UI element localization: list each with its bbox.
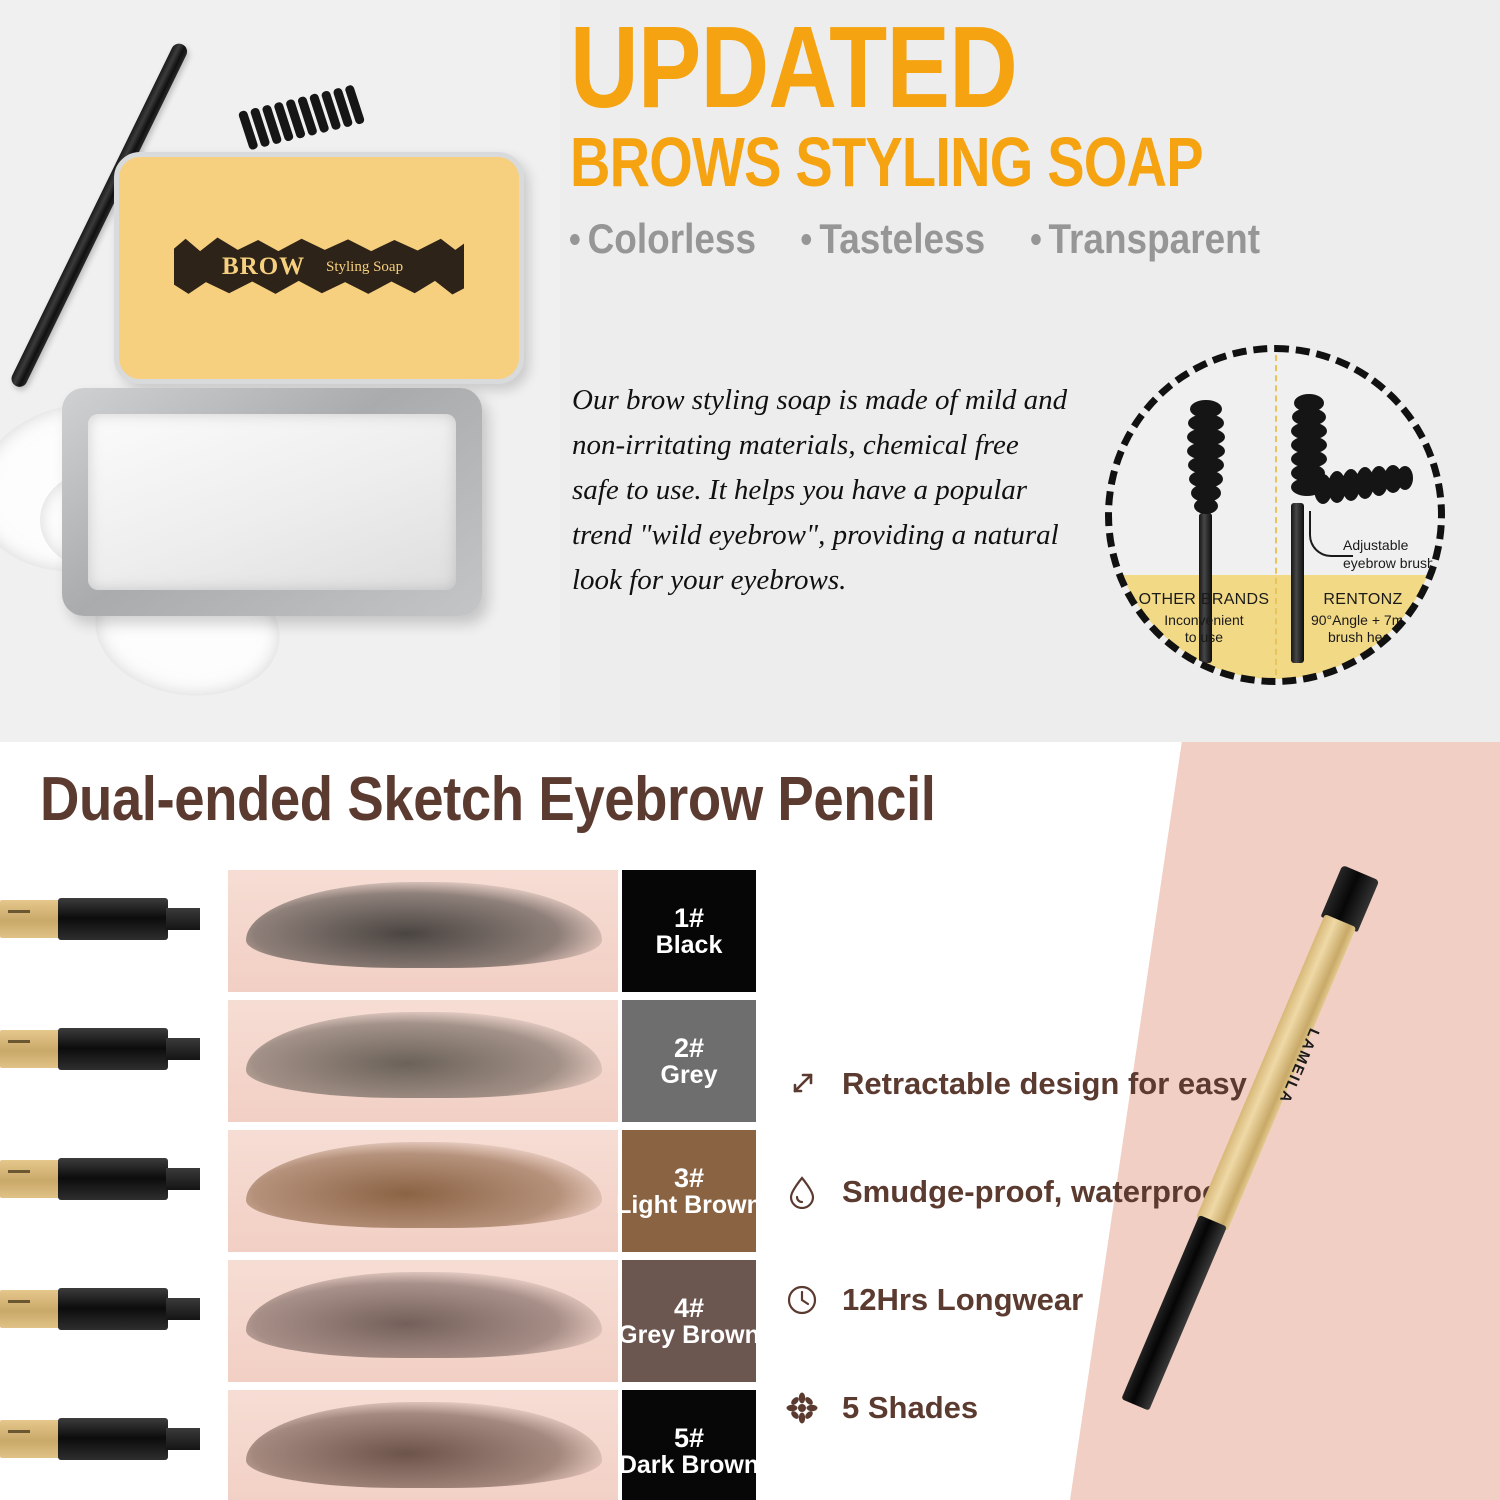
pencil-thumbnail xyxy=(0,1414,210,1462)
bullet-label: Transparent xyxy=(1049,215,1261,263)
bullet-tasteless: Tasteless xyxy=(802,215,985,263)
pencil-thumbnail xyxy=(0,894,210,942)
feature-label: 12Hrs Longwear xyxy=(842,1282,1083,1318)
pencil-gold-barrel xyxy=(0,1290,62,1328)
soap-tin-lid: BROW Styling Soap xyxy=(114,152,524,384)
headline-secondary: BROWS STYLING SOAP xyxy=(570,129,1290,196)
shade-name: Light Brown xyxy=(616,1192,762,1218)
clock-icon xyxy=(782,1280,822,1320)
pencil-chisel-tip xyxy=(166,1168,200,1190)
feature-item-shades: 5 Shades xyxy=(782,1354,1252,1462)
shade-row: 2# Grey xyxy=(0,1000,760,1122)
eyebrow-swatch-photo xyxy=(228,1260,618,1382)
eyebrow-swatch-photo xyxy=(228,870,618,992)
shade-swatch: 4# Grey Brown xyxy=(622,1260,756,1382)
pencil-black-barrel xyxy=(58,1288,168,1330)
shade-number: 3# xyxy=(674,1164,704,1192)
top-section: BROW Styling Soap UPDATED BROWS STYLING … xyxy=(0,0,1500,742)
flower-icon xyxy=(782,1388,822,1428)
soap-product-photo: BROW Styling Soap xyxy=(0,0,560,742)
eyebrow-swatch-photo xyxy=(228,1000,618,1122)
feature-bullets: Colorless Tasteless Transparent xyxy=(570,215,1362,263)
water-drop-icon xyxy=(782,1172,822,1212)
pencil-chisel-tip xyxy=(166,1038,200,1060)
pencil-gold-barrel xyxy=(0,900,62,938)
dashed-circle-border xyxy=(1105,345,1445,685)
pencil-black-barrel xyxy=(58,1158,168,1200)
shade-row: 1# Black xyxy=(0,870,760,992)
eyebrow-shape xyxy=(246,1142,602,1228)
shade-name: Grey xyxy=(661,1062,718,1088)
shade-name: Dark Brown xyxy=(619,1452,759,1478)
feature-item-retractable: Retractable design for easy xyxy=(782,1030,1252,1138)
feature-label: 5 Shades xyxy=(842,1390,978,1426)
product-infographic: BROW Styling Soap UPDATED BROWS STYLING … xyxy=(0,0,1500,1500)
eyebrow-swatch-photo xyxy=(228,1130,618,1252)
bullet-transparent: Transparent xyxy=(1031,215,1260,263)
pencil-thumbnail xyxy=(0,1154,210,1202)
shade-list: 1# Black 2# Grey xyxy=(0,870,760,1500)
shade-name: Grey Brown xyxy=(618,1322,760,1348)
brand-brushstroke: BROW Styling Soap xyxy=(174,235,464,297)
bullet-label: Colorless xyxy=(588,215,756,263)
pencil-gold-barrel xyxy=(0,1030,62,1068)
pencil-gold-barrel xyxy=(0,1420,62,1458)
bullet-dot-icon xyxy=(570,234,580,245)
pencil-thumbnail xyxy=(0,1024,210,1072)
pencil-chisel-tip xyxy=(166,1428,200,1450)
brush-comparison-diagram: Adjustable eyebrow brush OTHER BRANDS In… xyxy=(1105,345,1445,685)
shade-swatch: 5# Dark Brown xyxy=(622,1390,756,1500)
pencil-black-barrel xyxy=(58,898,168,940)
pencil-chisel-tip xyxy=(166,908,200,930)
pencil-chisel-tip xyxy=(166,1298,200,1320)
shade-swatch: 2# Grey xyxy=(622,1000,756,1122)
shade-swatch: 3# Light Brown xyxy=(622,1130,756,1252)
soap-tin-base xyxy=(62,388,482,616)
feature-label: Smudge-proof, waterproof xyxy=(842,1174,1231,1210)
shade-number: 4# xyxy=(674,1294,704,1322)
shade-name: Black xyxy=(656,932,723,958)
headline-block: UPDATED BROWS STYLING SOAP Colorless Tas… xyxy=(570,14,1470,263)
pencil-thumbnail xyxy=(0,1284,210,1332)
bottom-section: Dual-ended Sketch Eyebrow Pencil 1# Blac… xyxy=(0,742,1500,1500)
headline-primary: UPDATED xyxy=(570,14,1308,121)
eyebrow-shape xyxy=(246,1012,602,1098)
shade-row: 5# Dark Brown xyxy=(0,1390,760,1500)
product-description: Our brow styling soap is made of mild an… xyxy=(572,378,1072,603)
eyebrow-shape xyxy=(246,1272,602,1358)
feature-item-waterproof: Smudge-proof, waterproof xyxy=(782,1138,1252,1246)
soap-bar xyxy=(88,414,456,590)
eyebrow-shape xyxy=(246,1402,602,1488)
shade-row: 4# Grey Brown xyxy=(0,1260,760,1382)
pencil-gold-barrel xyxy=(0,1160,62,1198)
bullet-label: Tasteless xyxy=(819,215,985,263)
section-title: Dual-ended Sketch Eyebrow Pencil xyxy=(40,764,936,835)
bullet-dot-icon xyxy=(1031,234,1041,245)
pencil-black-barrel xyxy=(58,1028,168,1070)
shade-swatch: 1# Black xyxy=(622,870,756,992)
feature-list: Retractable design for easy Smudge-proof… xyxy=(782,1030,1252,1462)
shade-number: 2# xyxy=(674,1034,704,1062)
shade-number: 5# xyxy=(674,1424,704,1452)
pencil-black-barrel xyxy=(58,1418,168,1460)
shade-row: 3# Light Brown xyxy=(0,1130,760,1252)
eyebrow-shape xyxy=(246,882,602,968)
bullet-dot-icon xyxy=(802,234,812,245)
brand-name: BROW xyxy=(222,253,305,281)
eyebrow-swatch-photo xyxy=(228,1390,618,1500)
shade-number: 1# xyxy=(674,904,704,932)
brand-subtitle: Styling Soap xyxy=(326,259,403,276)
diagonal-arrow-icon xyxy=(782,1064,822,1104)
feature-label: Retractable design for easy xyxy=(842,1066,1247,1102)
bullet-colorless: Colorless xyxy=(570,215,756,263)
spoolie-brush-head xyxy=(242,99,375,152)
